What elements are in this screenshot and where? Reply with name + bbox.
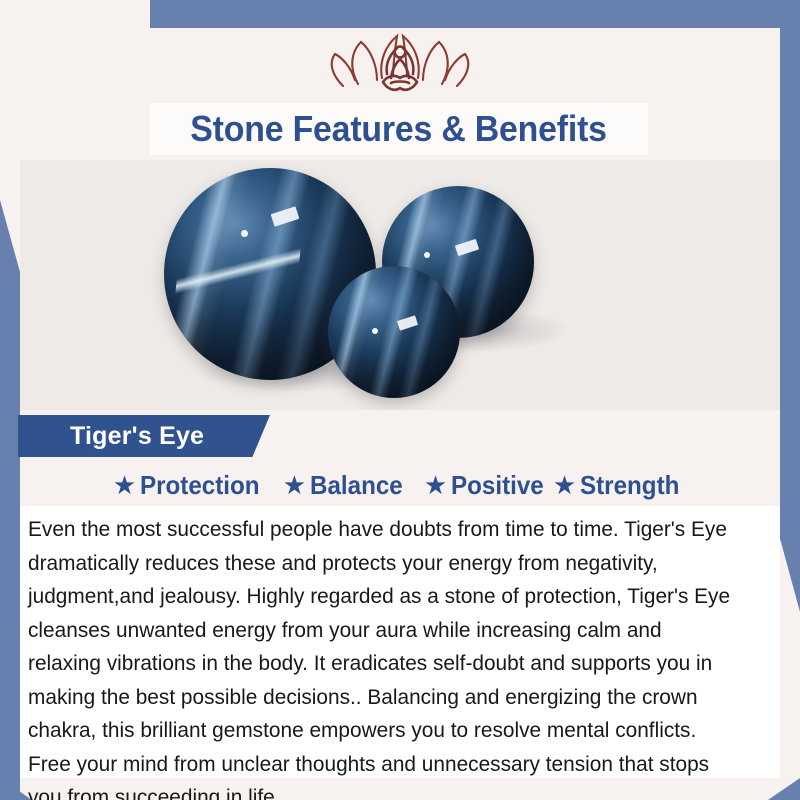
poster-canvas: BUDDHA STONES Stone Features & Benefits (0, 0, 800, 800)
star-icon: ★ (113, 472, 136, 498)
description-text: Even the most successful people have dou… (28, 512, 740, 800)
title-banner: Stone Features & Benefits (150, 103, 648, 155)
specular-highlight (397, 315, 418, 330)
star-icon: ★ (424, 472, 447, 498)
stone-name-banner: Tiger's Eye (18, 415, 270, 457)
specular-highlight (424, 252, 430, 258)
stone-sphere-small (328, 266, 460, 398)
specular-highlight (372, 328, 378, 334)
frame-band-left (0, 200, 20, 800)
specular-highlight (241, 230, 248, 237)
benefit-item-strength: ★ Strength (553, 470, 687, 501)
hero-stones-group (150, 160, 650, 410)
description-panel: Even the most successful people have dou… (20, 506, 780, 778)
benefit-label: Protection (140, 470, 260, 501)
star-icon: ★ (283, 472, 306, 498)
hero-image (20, 160, 780, 410)
benefit-item-positive: ★ Positive (424, 470, 551, 501)
benefits-row: ★ Protection ★ Balance ★ Positive ★ Stre… (20, 464, 780, 506)
stone-name-label: Tiger's Eye (70, 422, 204, 451)
benefit-item-balance: ★ Balance (283, 470, 410, 501)
frame-band-top (150, 0, 800, 28)
frame-corner-bottom-right (768, 778, 800, 800)
star-icon: ★ (553, 472, 576, 498)
benefit-item-protection: ★ Protection (113, 470, 269, 501)
specular-highlight (455, 239, 479, 256)
page-title: Stone Features & Benefits (191, 108, 608, 150)
benefit-label: Strength (580, 470, 679, 501)
lotus-meditation-figure-icon (325, 26, 475, 100)
benefit-label: Balance (310, 470, 403, 501)
benefit-label: Positive (451, 470, 544, 501)
